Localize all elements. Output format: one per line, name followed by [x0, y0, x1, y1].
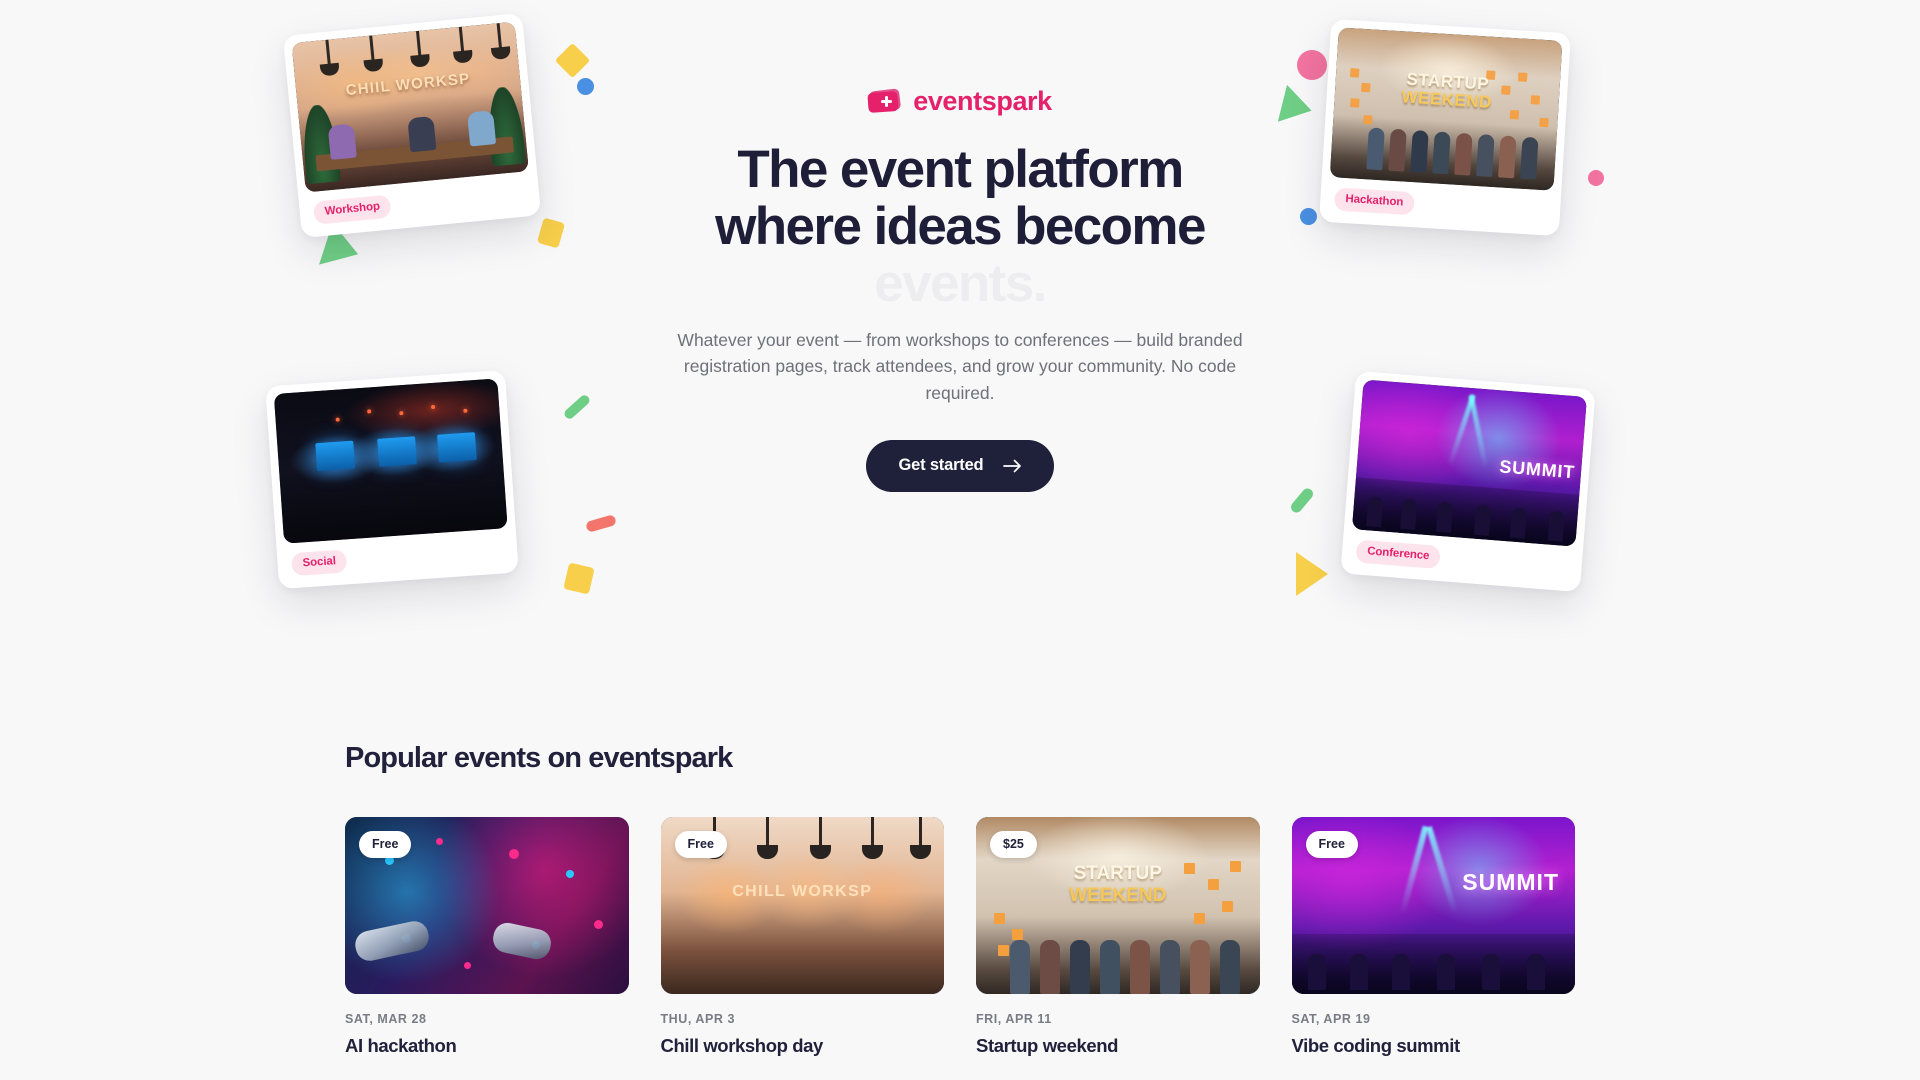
event-title: Startup weekend [976, 1034, 1260, 1057]
events-grid: Free SAT, MAR 28 AI hackathon [345, 817, 1575, 1057]
landing-page: CHIIL WORKSP Workshop [0, 0, 1920, 1080]
page-title: The event platform where ideas become ev… [640, 141, 1280, 313]
green-bar-icon [563, 393, 592, 421]
pink-circle-icon [1588, 170, 1604, 186]
section-title: Popular events on eventspark [345, 742, 1575, 775]
photo-sign-line2: WEEKEND [1401, 87, 1492, 112]
yellow-square-icon [563, 562, 594, 594]
price-badge: Free [359, 831, 411, 858]
hero-cta-wrap: Get started [640, 440, 1280, 492]
popular-events-section: Popular events on eventspark [0, 742, 1920, 1057]
event-date: THU, APR 3 [661, 1012, 945, 1026]
photo-sign-line2: WEEKEND [1069, 885, 1166, 907]
blue-circle-icon [577, 78, 594, 95]
category-badge: Conference [1355, 539, 1441, 569]
brand-logo[interactable]: eventspark [640, 86, 1280, 117]
floating-card-image: STARTUP WEEKEND [1330, 27, 1563, 190]
event-thumbnail: CHILL WORKSP Free [661, 817, 945, 994]
pink-circle-icon [1297, 50, 1327, 80]
photo-sign-text: SUMMIT [1499, 456, 1576, 483]
category-badge: Workshop [313, 194, 392, 224]
photo-sign-text: CHIIL WORKSP [345, 70, 471, 99]
photo-sign-text: CHILL WORKSP [732, 883, 872, 901]
event-card[interactable]: STARTUP WEEKEND $25 [976, 817, 1260, 1057]
floating-card-image: CHIIL WORKSP [292, 22, 529, 193]
hero-content: eventspark The event platform where idea… [640, 86, 1280, 492]
floating-card-hackathon[interactable]: STARTUP WEEKEND Hackathon [1319, 19, 1571, 236]
coral-bar-icon [585, 514, 617, 533]
event-thumbnail: Free [345, 817, 629, 994]
blue-circle-icon [1300, 208, 1317, 225]
floating-card-conference[interactable]: SUMMIT Conference [1340, 371, 1595, 592]
event-thumbnail: SUMMIT Free [1292, 817, 1576, 994]
headline-line-1: The event platform [640, 141, 1280, 198]
category-badge: Hackathon [1334, 187, 1415, 215]
green-bar-icon [1289, 486, 1315, 515]
event-thumbnail: STARTUP WEEKEND $25 [976, 817, 1260, 994]
floating-card-image [274, 378, 508, 543]
floating-card-workshop[interactable]: CHIIL WORKSP Workshop [283, 13, 541, 238]
ticket-spark-icon [868, 89, 902, 114]
yellow-square-icon [537, 217, 565, 248]
event-title: Chill workshop day [661, 1034, 945, 1057]
price-badge: $25 [990, 831, 1037, 858]
event-card[interactable]: CHILL WORKSP Free THU, APR 3 Chill works… [661, 817, 945, 1057]
arrow-right-icon [1003, 459, 1022, 473]
event-date: SAT, MAR 28 [345, 1012, 629, 1026]
headline-line-2: where ideas become [640, 198, 1280, 255]
price-badge: Free [1306, 831, 1358, 858]
get-started-label: Get started [899, 456, 984, 475]
event-date: FRI, APR 11 [976, 1012, 1260, 1026]
event-card[interactable]: Free SAT, MAR 28 AI hackathon [345, 817, 629, 1057]
floating-card-social[interactable]: Social [265, 370, 519, 589]
event-date: SAT, APR 19 [1292, 1012, 1576, 1026]
headline-line-3: events. [640, 255, 1280, 312]
photo-sign-text: SUMMIT [1462, 869, 1559, 896]
brand-name: eventspark [913, 86, 1052, 117]
event-card[interactable]: SUMMIT Free SAT, APR 19 Vibe coding sum [1292, 817, 1576, 1057]
floating-card-image: SUMMIT [1352, 380, 1587, 547]
price-badge: Free [675, 831, 727, 858]
event-title: AI hackathon [345, 1034, 629, 1057]
yellow-diamond-icon [555, 43, 590, 78]
yellow-triangle-icon [1296, 552, 1328, 596]
photo-sign-line1: STARTUP [1074, 863, 1162, 885]
get-started-button[interactable]: Get started [866, 440, 1055, 492]
hero-subtitle: Whatever your event — from workshops to … [640, 327, 1280, 407]
hero-section: CHIIL WORKSP Workshop [0, 0, 1920, 700]
green-triangle-icon [1278, 85, 1316, 129]
category-badge: Social [291, 549, 348, 576]
event-title: Vibe coding summit [1292, 1034, 1576, 1057]
